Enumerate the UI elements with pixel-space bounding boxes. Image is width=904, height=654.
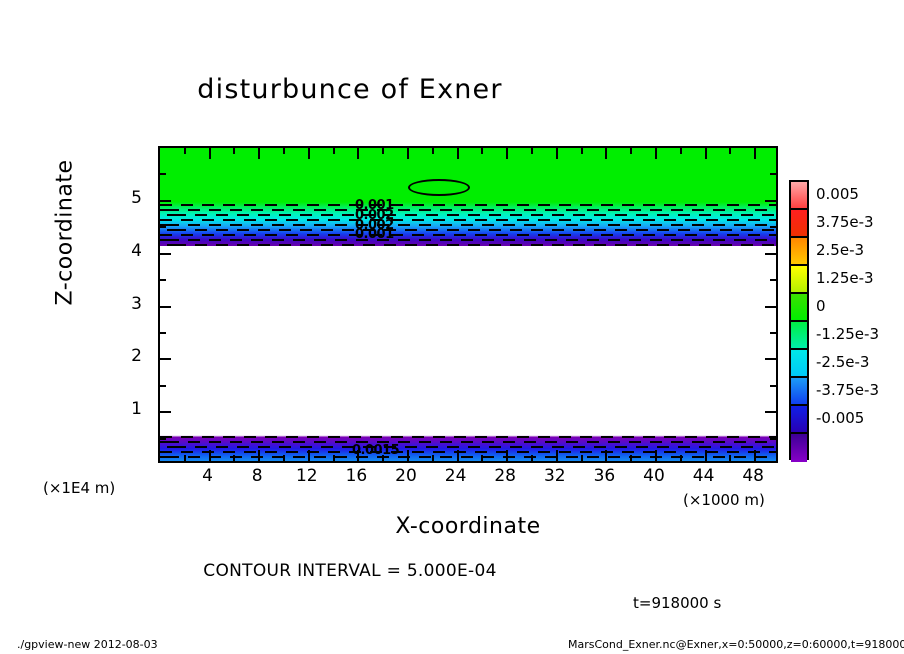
axis-tick (770, 279, 776, 281)
axis-tick (531, 148, 533, 154)
axis-tick (160, 226, 166, 228)
axis-tick (283, 455, 285, 461)
y-tick-label: 3 (116, 294, 142, 314)
axis-tick (655, 148, 657, 159)
axis-tick (770, 385, 776, 387)
colorbar-band (791, 182, 807, 210)
axis-tick (184, 455, 186, 461)
axis-tick (481, 455, 483, 461)
time-stamp-note: t=918000 s (633, 594, 721, 612)
axis-tick (556, 450, 558, 461)
contour-line (160, 461, 776, 463)
axis-tick (258, 450, 260, 461)
axis-tick (209, 148, 211, 159)
axis-tick (160, 279, 166, 281)
colorbar-tick-label: 1.25e-3 (816, 269, 874, 287)
axis-tick (160, 332, 166, 334)
axis-tick (705, 450, 707, 461)
axis-tick (184, 148, 186, 154)
axis-tick (357, 148, 359, 159)
x-tick-label: 48 (733, 466, 773, 486)
axis-tick (581, 148, 583, 154)
axis-tick (770, 226, 776, 228)
axis-tick (432, 148, 434, 154)
axis-tick (754, 450, 756, 461)
axis-tick (680, 455, 682, 461)
axis-tick (481, 148, 483, 154)
axis-tick (407, 450, 409, 461)
contour-value-label: 0.0015 (352, 443, 399, 458)
axis-tick (630, 148, 632, 154)
axis-tick (765, 200, 776, 202)
colorbar-tick-label: -1.25e-3 (816, 325, 879, 343)
axis-tick (160, 200, 171, 202)
axis-tick (765, 411, 776, 413)
x-tick-label: 20 (386, 466, 426, 486)
axis-tick (333, 455, 335, 461)
x-tick-label: 36 (584, 466, 624, 486)
axis-tick (160, 385, 166, 387)
axis-tick (680, 148, 682, 154)
y-tick-label: 4 (116, 241, 142, 261)
axis-tick (770, 332, 776, 334)
axis-tick (506, 450, 508, 461)
y-tick-label: 5 (116, 188, 142, 208)
axis-tick (754, 148, 756, 159)
axis-tick (233, 148, 235, 154)
x-tick-label: 24 (436, 466, 476, 486)
axis-tick (457, 148, 459, 159)
x-tick-label: 44 (684, 466, 724, 486)
colorbar-tick-label: 3.75e-3 (816, 213, 874, 231)
axis-tick (531, 455, 533, 461)
y-axis-unit-label: (×1E4 m) (43, 479, 115, 497)
axis-tick (160, 253, 171, 255)
x-tick-label: 40 (634, 466, 674, 486)
x-tick-label: 12 (287, 466, 327, 486)
region-lower-gradient-layer (160, 433, 776, 463)
colorbar-tick-label: -2.5e-3 (816, 353, 869, 371)
closed-contour-ellipse-icon (408, 179, 470, 196)
axis-tick (382, 148, 384, 154)
axis-tick (308, 148, 310, 159)
axis-tick (258, 148, 260, 159)
colorbar-band (791, 238, 807, 266)
axis-tick (630, 455, 632, 461)
x-tick-label: 28 (485, 466, 525, 486)
axis-tick (770, 173, 776, 175)
axis-tick (308, 450, 310, 461)
colorbar-band (791, 406, 807, 434)
colorbar-band (791, 210, 807, 238)
axis-tick (209, 450, 211, 461)
axis-tick (333, 148, 335, 154)
colorbar-band (791, 350, 807, 378)
contour-interval-note: CONTOUR INTERVAL = 5.000E-04 (0, 561, 700, 581)
footer-right-text: MarsCond_Exner.nc@Exner,x=0:50000,z=0:60… (568, 638, 904, 651)
plot-area (158, 146, 778, 463)
axis-tick (233, 455, 235, 461)
x-tick-label: 8 (237, 466, 277, 486)
axis-tick (160, 306, 171, 308)
colorbar-band (791, 378, 807, 406)
footer-left-text: ./gpview-new 2012-08-03 (17, 638, 158, 651)
axis-tick (770, 438, 776, 440)
colorbar-tick-label: -0.005 (816, 409, 864, 427)
x-tick-label: 16 (336, 466, 376, 486)
axis-tick (729, 148, 731, 154)
colorbar-tick-label: 0.005 (816, 185, 859, 203)
axis-tick (765, 253, 776, 255)
region-upper-gradient-layer (160, 202, 776, 246)
colorbar-band (791, 322, 807, 350)
y-tick-label: 2 (116, 346, 142, 366)
axis-tick (765, 306, 776, 308)
axis-tick (457, 450, 459, 461)
colorbar-tick-label: -3.75e-3 (816, 381, 879, 399)
axis-tick (160, 358, 171, 360)
colorbar-tick-label: 0 (816, 297, 826, 315)
axis-tick (407, 148, 409, 159)
axis-tick (765, 358, 776, 360)
axis-tick (432, 455, 434, 461)
colorbar-band (791, 266, 807, 294)
page-title: disturbunce of Exner (0, 74, 700, 105)
axis-tick (605, 148, 607, 159)
axis-tick (705, 148, 707, 159)
axis-tick (283, 148, 285, 154)
axis-tick (160, 173, 166, 175)
x-tick-label: 32 (535, 466, 575, 486)
contour-value-label: 0.001 (355, 227, 394, 242)
axis-tick (160, 438, 166, 440)
x-axis-title: X-coordinate (158, 514, 778, 539)
y-axis-title: Z-coordinate (53, 133, 78, 333)
axis-tick (506, 148, 508, 159)
x-tick-label: 4 (188, 466, 228, 486)
axis-tick (605, 450, 607, 461)
x-axis-unit-label: (×1000 m) (683, 491, 765, 509)
axis-tick (160, 411, 171, 413)
axis-tick (556, 148, 558, 159)
y-tick-label: 1 (116, 399, 142, 419)
colorbar (789, 180, 809, 460)
colorbar-band (791, 294, 807, 322)
axis-tick (581, 455, 583, 461)
colorbar-band (791, 434, 807, 462)
axis-tick (729, 455, 731, 461)
colorbar-tick-label: 2.5e-3 (816, 241, 864, 259)
axis-tick (655, 450, 657, 461)
